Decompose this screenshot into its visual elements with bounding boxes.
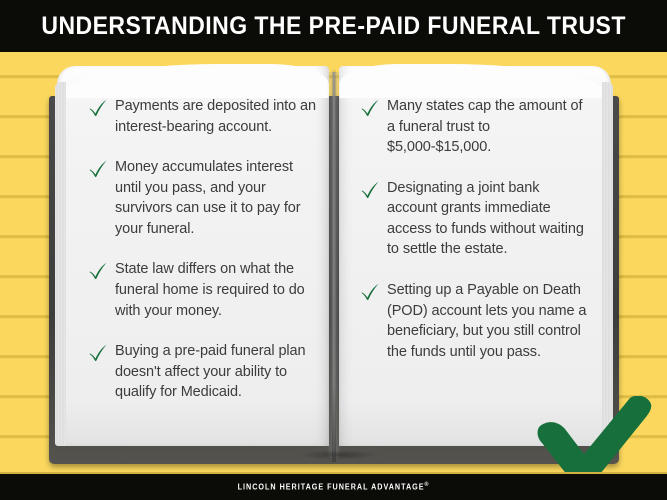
list-item: Buying a pre-paid funeral plan doesn't a… [87, 341, 319, 403]
list-item-text: Many states cap the amount of a funeral … [387, 96, 591, 158]
list-item: Setting up a Payable on Death (POD) acco… [359, 280, 591, 362]
open-book-illustration: Payments are deposited into an interest-… [49, 66, 619, 464]
left-page-bullet-list: Payments are deposited into an interest-… [87, 96, 319, 423]
list-item: Many states cap the amount of a funeral … [359, 96, 591, 158]
footer-bar: LINCOLN HERITAGE FUNERAL ADVANTAGE® [0, 472, 667, 500]
page-title: UNDERSTANDING THE PRE-PAID FUNERAL TRUST [41, 12, 625, 41]
page-stack-edge-left [55, 82, 66, 446]
list-item-text: Designating a joint bank account grants … [387, 178, 591, 260]
registered-trademark-icon: ® [424, 482, 429, 488]
check-icon [87, 342, 109, 364]
check-icon [87, 158, 109, 180]
list-item: Payments are deposited into an interest-… [87, 96, 319, 137]
header-bar: UNDERSTANDING THE PRE-PAID FUNERAL TRUST [0, 0, 667, 52]
check-icon [87, 97, 109, 119]
infographic-canvas: Payments are deposited into an interest-… [0, 0, 667, 500]
book-gutter-shadow [332, 70, 336, 462]
book-spine-bottom-shadow [299, 450, 379, 460]
page-stack-edge-right [602, 82, 613, 446]
list-item-text: Money accumulates interest until you pas… [115, 157, 319, 239]
list-item-text: Setting up a Payable on Death (POD) acco… [387, 280, 591, 362]
check-icon [87, 260, 109, 282]
check-icon [359, 97, 381, 119]
right-page-bullet-list: Many states cap the amount of a funeral … [359, 96, 591, 382]
check-icon [359, 281, 381, 303]
list-item: State law differs on what the funeral ho… [87, 259, 319, 321]
list-item-text: Payments are deposited into an interest-… [115, 96, 319, 137]
list-item-text: State law differs on what the funeral ho… [115, 259, 319, 321]
brand-wordmark: LINCOLN HERITAGE FUNERAL ADVANTAGE® [238, 482, 430, 492]
check-icon [359, 179, 381, 201]
list-item: Designating a joint bank account grants … [359, 178, 591, 260]
brand-name: LINCOLN HERITAGE FUNERAL ADVANTAGE [238, 483, 425, 492]
list-item: Money accumulates interest until you pas… [87, 157, 319, 239]
list-item-text: Buying a pre-paid funeral plan doesn't a… [115, 341, 319, 403]
